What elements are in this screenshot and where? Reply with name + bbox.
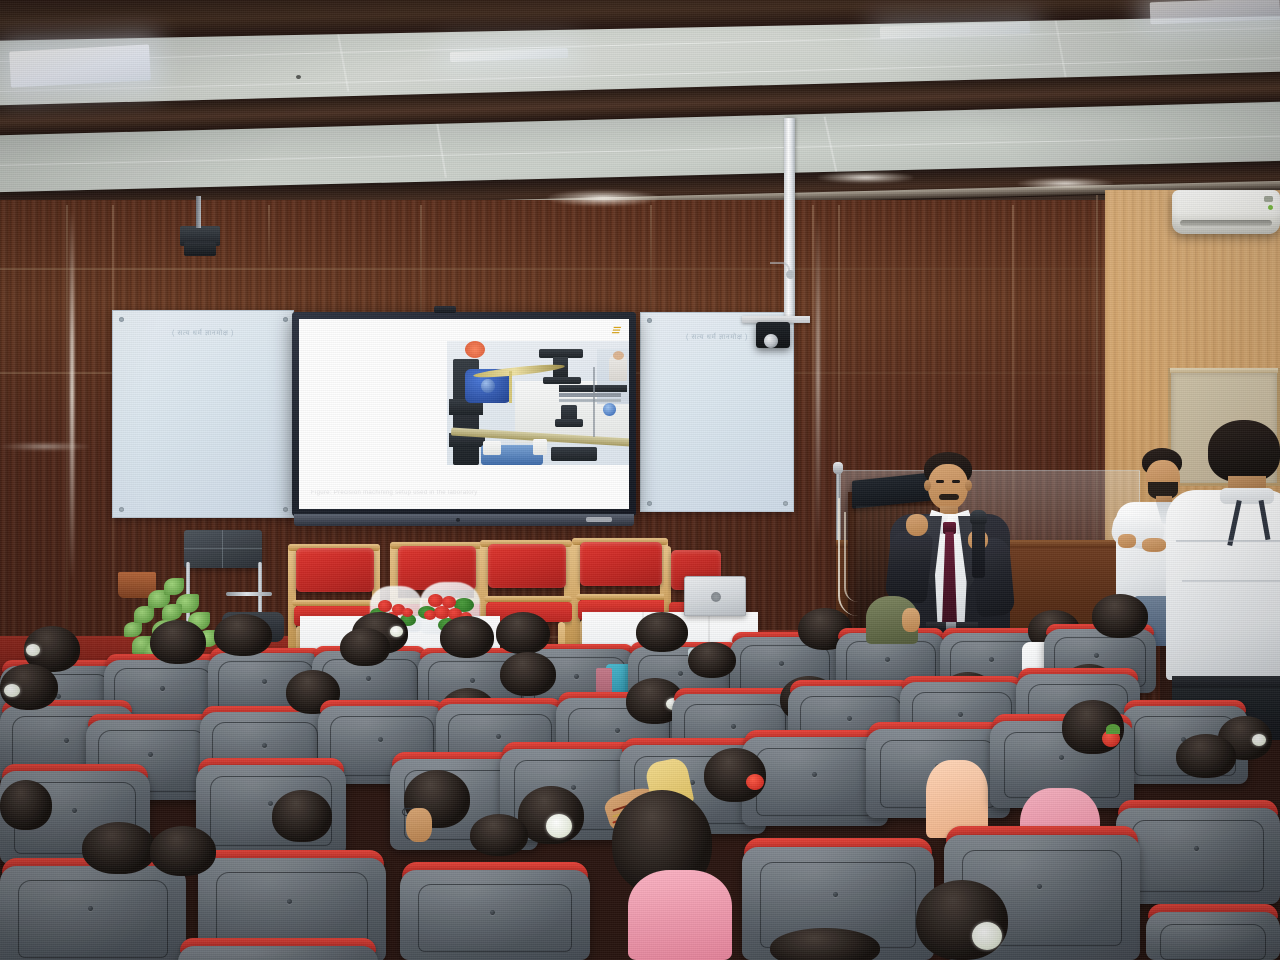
auditorium-photo: ( सत्य धर्म ज्ञानमोक्ष ) ( सत्य धर्म ज्ञ…: [0, 0, 1280, 960]
presentation-laptop[interactable]: [684, 576, 746, 616]
audience-head-a2: [150, 620, 206, 664]
whiteboard-left-text: ( सत्य धर्म ज्ञानमोक्ष ): [113, 329, 293, 338]
seat-row-d-7[interactable]: [178, 938, 378, 960]
wall-gloss: [0, 442, 90, 451]
ceiling-projector-mount: [784, 118, 795, 318]
notice-board-shelf: [1170, 368, 1278, 373]
audience-head-e2: [688, 642, 736, 678]
ceiling-light-panel-left: [9, 44, 151, 87]
office-chair-arm: [226, 592, 272, 596]
smart-board-chin: [294, 514, 634, 526]
audience-head-e3: [1176, 734, 1236, 778]
wall-gloss: [548, 190, 658, 206]
presenter-face: [928, 464, 968, 510]
audience-head-e1: [340, 628, 390, 666]
slide-photo: [447, 341, 629, 465]
audience-cloth-pink-center: [628, 870, 732, 960]
audience-head-a7: [636, 612, 688, 652]
split-air-conditioner[interactable]: [1172, 190, 1280, 234]
wall-gloss: [818, 172, 913, 183]
audience-head-b5: [500, 652, 556, 696]
presenter-moustache: [939, 494, 959, 500]
audience-head-c1: [0, 780, 52, 830]
ceiling-speaker-pole: [196, 196, 201, 228]
slide-logo: ≡: [610, 323, 624, 338]
audience-head-a6: [496, 612, 550, 654]
seat-row-d-6[interactable]: [1146, 904, 1280, 960]
podium-microphone-head: [833, 462, 843, 474]
office-chair-back-lines: [184, 548, 262, 549]
presenter-gesturing-hand: [906, 514, 928, 536]
audience-head-e4: [770, 928, 880, 960]
overhead-projector[interactable]: [756, 322, 790, 348]
audience-face-a9: [902, 608, 920, 632]
slide-caption: Figure: Precision machining setup used i…: [311, 490, 478, 496]
audience-head-c6: [704, 748, 766, 802]
microphone-cable-2: [844, 512, 858, 602]
audience-head-a5: [440, 616, 494, 658]
handheld-microphone-head: [970, 510, 987, 524]
wall-seam: [650, 205, 652, 315]
seat-row-d-3[interactable]: [400, 862, 590, 960]
handheld-microphone[interactable]: [972, 516, 985, 578]
whiteboard-left[interactable]: ( सत्य धर्म ज्ञानमोक्ष ): [112, 310, 294, 518]
wall-gloss: [1018, 178, 1113, 189]
audience-head-c8: [1062, 700, 1124, 754]
ceiling-speaker-body: [184, 242, 216, 256]
audience-head-d1: [82, 822, 156, 874]
wall-seam: [812, 205, 814, 635]
ceiling-speck: [296, 75, 301, 79]
standing-attendee-foreground: [1166, 420, 1280, 740]
projector-cable: [770, 262, 790, 276]
attendee-hair: [1208, 420, 1280, 482]
wall-seam: [268, 205, 270, 265]
seat-row-c-9[interactable]: [1116, 800, 1280, 904]
slide-surface: ≡: [299, 319, 629, 509]
audience-head-a11: [1092, 594, 1148, 638]
audience-head-d5: [916, 880, 1008, 960]
wall-gloss: [816, 215, 820, 545]
audience-head-a3: [214, 614, 272, 656]
office-chair-back[interactable]: [184, 530, 262, 568]
jasmine-flower-garland: [972, 922, 1002, 950]
audience-face-e6: [406, 808, 432, 842]
jasmine-flower-garland: [546, 814, 572, 838]
wall-seam: [66, 205, 68, 635]
smart-board-sensor: [434, 306, 456, 313]
office-chair-back-lines: [222, 530, 223, 568]
audience-head-e5: [470, 814, 528, 856]
presenter-left-arm: [884, 530, 933, 604]
audience-head-c2: [272, 790, 332, 842]
audience-head-d2: [150, 826, 216, 876]
interactive-smart-board[interactable]: ≡: [292, 312, 636, 516]
audience-head-b1: [0, 664, 58, 710]
wall-gloss: [70, 210, 74, 580]
wall-seam: [0, 268, 1150, 270]
